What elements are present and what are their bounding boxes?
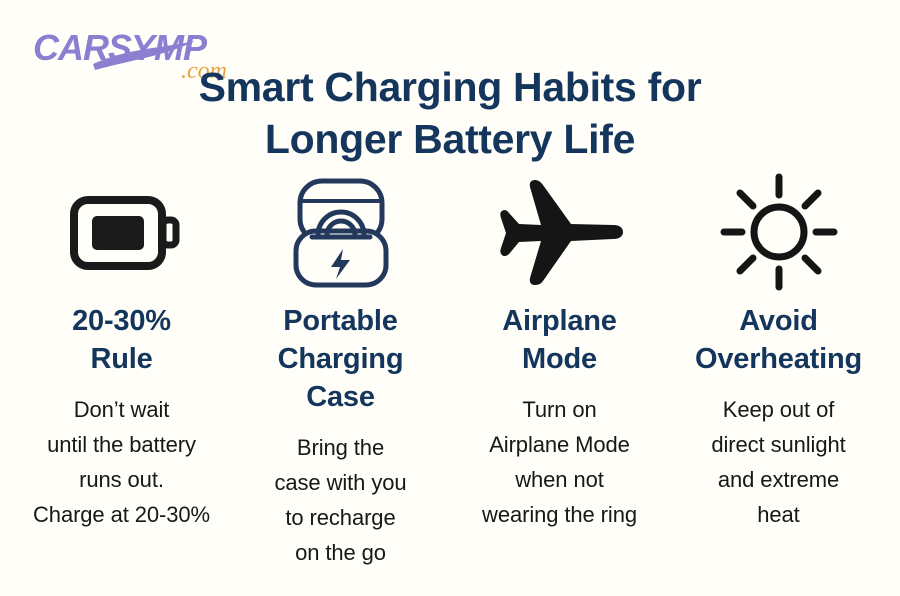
- tip-body-line-2: direct sunlight: [711, 432, 845, 457]
- tip-body-portable-charging-case: Bring the case with you to recharge on t…: [275, 430, 407, 570]
- sun-disc-shape: [754, 207, 804, 257]
- tip-body-line-3: runs out.: [79, 467, 164, 492]
- tip-heading-airplane-mode: Airplane Mode: [502, 302, 616, 378]
- tip-heading-line-2: Charging: [278, 343, 404, 375]
- tip-heading-line-1: Portable: [283, 305, 397, 337]
- tip-body-line-1: Don’t wait: [74, 397, 170, 422]
- tip-body-line-2: Airplane Mode: [489, 432, 630, 457]
- tip-body-line-4: Charge at 20-30%: [33, 502, 210, 527]
- tip-column-avoid-overheating: Avoid Overheating Keep out of direct sun…: [669, 166, 888, 532]
- tip-body-line-3: to recharge: [285, 505, 395, 530]
- charging-case-icon: [286, 166, 396, 298]
- tip-body-line-1: Keep out of: [723, 397, 834, 422]
- tip-column-portable-charging-case: Portable Charging Case Bring the case wi…: [231, 166, 450, 570]
- airplane-icon: [495, 166, 625, 298]
- tip-body-avoid-overheating: Keep out of direct sunlight and extreme …: [711, 392, 845, 532]
- tip-heading-line-2: Overheating: [695, 343, 862, 375]
- sun-rays-group: [724, 177, 834, 287]
- sun-icon-svg: [720, 173, 838, 291]
- tip-column-airplane-mode: Airplane Mode Turn on Airplane Mode when…: [450, 166, 669, 532]
- tip-heading-line-1: Avoid: [739, 305, 817, 337]
- tip-heading-line-1: 20-30%: [72, 305, 171, 337]
- page-title-line-1: Smart Charging Habits for: [0, 61, 900, 113]
- tip-heading-line-2: Rule: [90, 343, 152, 375]
- tip-heading-line-2: Mode: [522, 343, 597, 375]
- airplane-icon-svg: [495, 177, 625, 287]
- charging-case-icon-svg: [286, 175, 396, 290]
- sun-ray-sw: [740, 258, 753, 271]
- sun-ray-ne: [805, 193, 818, 206]
- tip-body-airplane-mode: Turn on Airplane Mode when not wearing t…: [482, 392, 637, 532]
- tip-body-line-4: heat: [757, 502, 799, 527]
- tip-body-line-3: when not: [515, 467, 604, 492]
- tip-body-20-30-rule: Don’t wait until the battery runs out. C…: [33, 392, 210, 532]
- tip-body-line-4: wearing the ring: [482, 502, 637, 527]
- page-title: Smart Charging Habits for Longer Battery…: [0, 61, 900, 165]
- tip-heading-20-30-rule: 20-30% Rule: [72, 302, 171, 378]
- tip-body-line-2: until the battery: [47, 432, 196, 457]
- sun-icon: [720, 166, 838, 298]
- tip-column-20-30-rule: 20-30% Rule Don’t wait until the battery…: [12, 166, 231, 532]
- battery-icon: [62, 166, 182, 298]
- tip-heading-avoid-overheating: Avoid Overheating: [695, 302, 862, 378]
- tip-body-line-1: Bring the: [297, 435, 384, 460]
- tip-heading-portable-charging-case: Portable Charging Case: [278, 302, 404, 416]
- tip-heading-line-3: Case: [306, 381, 375, 413]
- battery-level-fill: [92, 216, 144, 250]
- battery-icon-svg: [62, 180, 182, 285]
- page-title-line-2: Longer Battery Life: [0, 113, 900, 165]
- airplane-shape: [500, 180, 623, 285]
- sun-ray-nw: [740, 193, 753, 206]
- sun-ray-se: [805, 258, 818, 271]
- tips-columns: 20-30% Rule Don’t wait until the battery…: [12, 166, 888, 570]
- tip-body-line-4: on the go: [295, 540, 386, 565]
- tip-body-line-3: and extreme: [718, 467, 839, 492]
- battery-terminal-shape: [163, 220, 176, 245]
- tip-body-line-1: Turn on: [522, 397, 596, 422]
- tip-heading-line-1: Airplane: [502, 305, 616, 337]
- tip-body-line-2: case with you: [275, 470, 407, 495]
